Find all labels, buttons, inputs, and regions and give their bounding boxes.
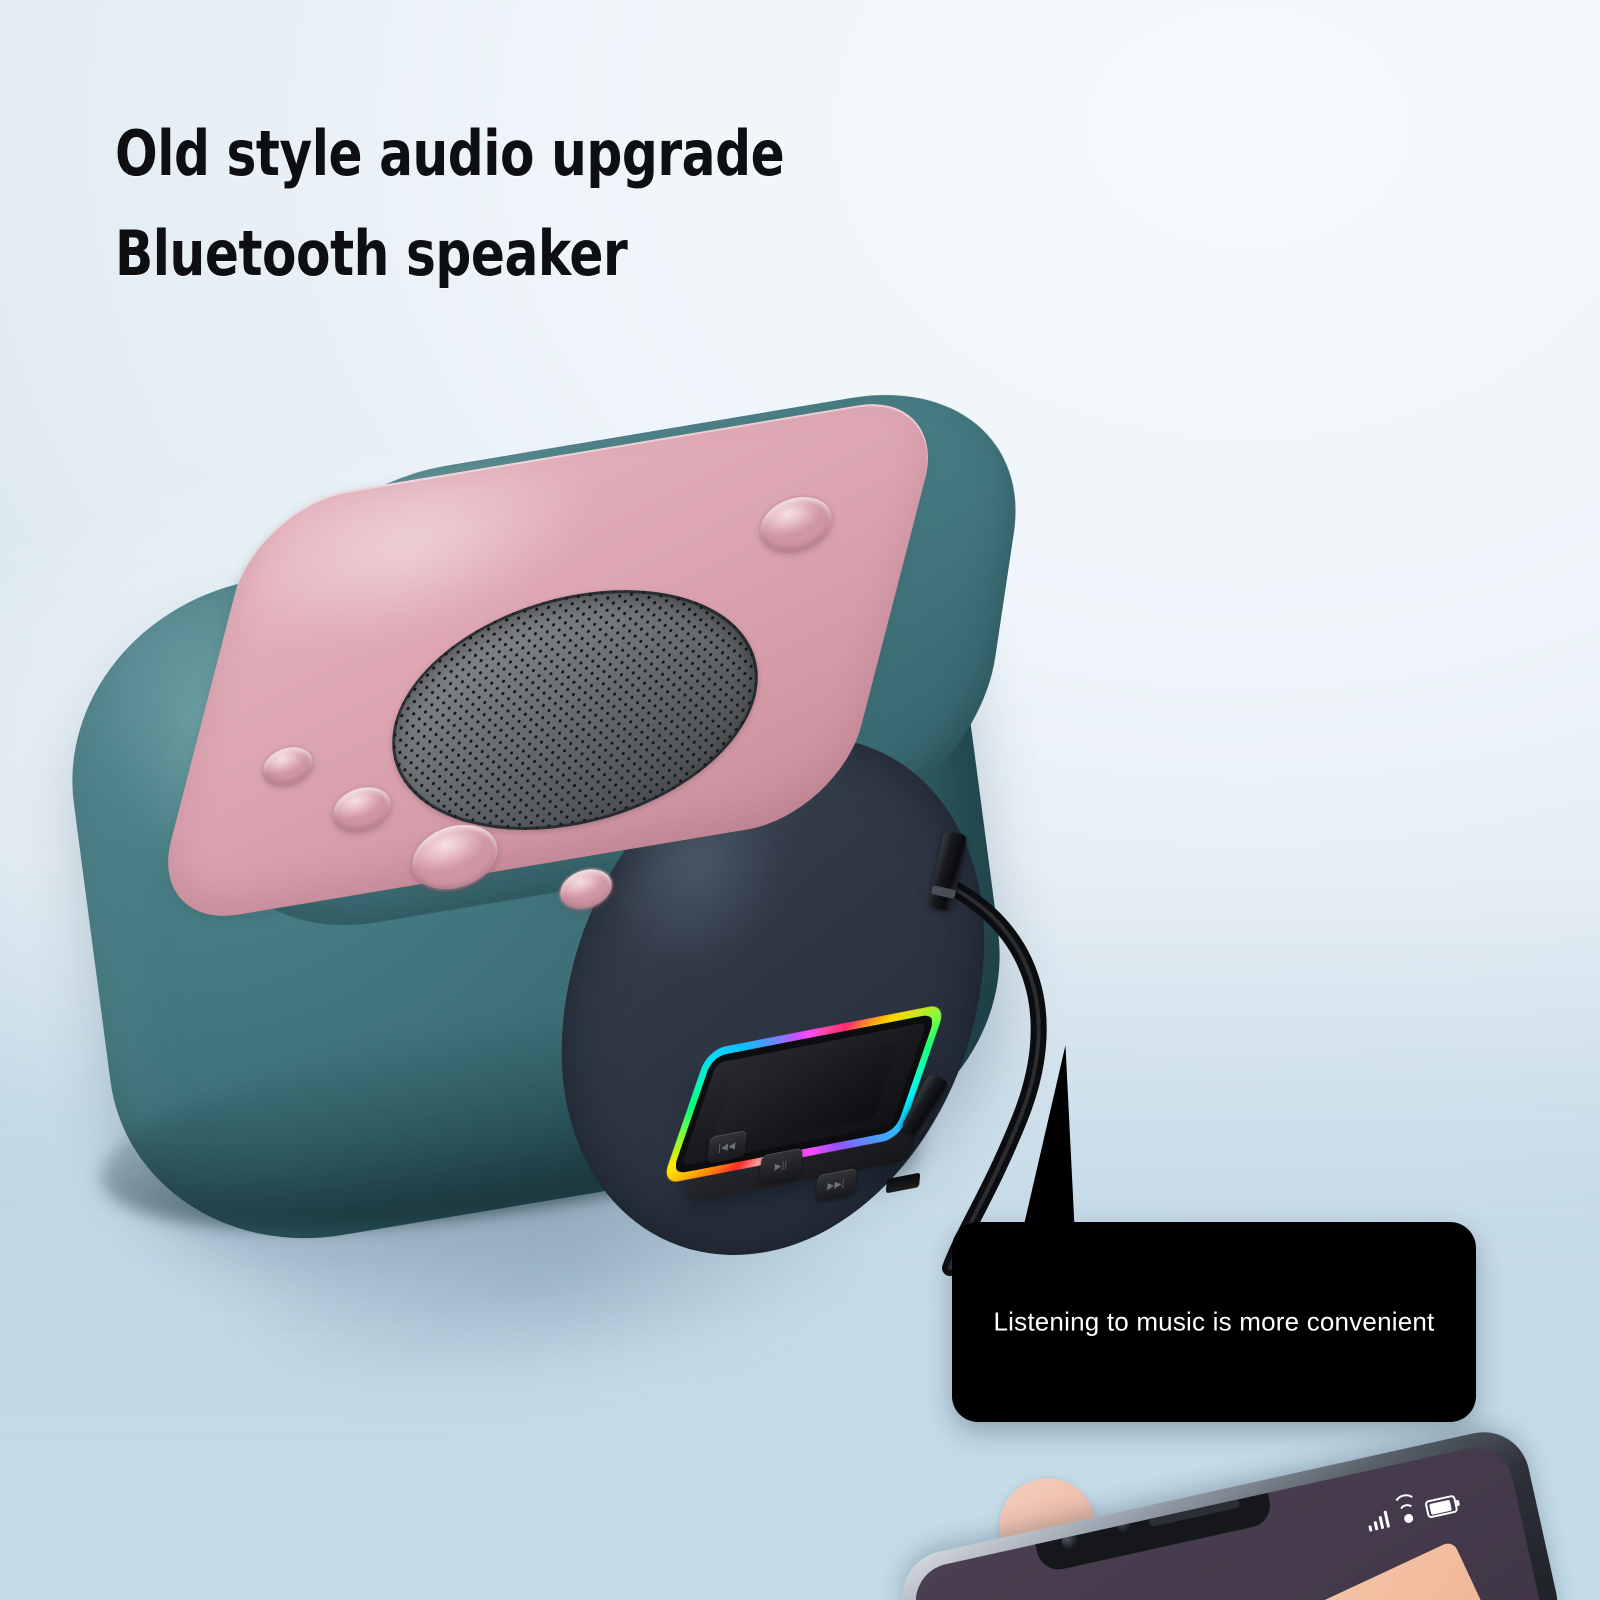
callout-bubble: Listening to music is more convenient xyxy=(952,1222,1476,1422)
headline-line-1: Old style audio upgrade xyxy=(115,104,784,204)
status-bar-icons xyxy=(1365,1494,1458,1531)
headline-block: Old style audio upgrade Bluetooth speake… xyxy=(115,104,859,305)
music-app-card[interactable]: E Y xyxy=(1190,1540,1516,1600)
product-marketing-image: Old style audio upgrade Bluetooth speake… xyxy=(0,0,1600,1600)
smartphone: 11:33 E Y xyxy=(880,1452,1600,1600)
play-pause-glyph: ▶|| xyxy=(760,1156,802,1175)
battery-icon xyxy=(1424,1494,1458,1518)
signal-bars-icon xyxy=(1365,1511,1390,1532)
bluetooth-receiver-dongle[interactable]: |◀◀ ▶|| ▶▶| xyxy=(668,1022,968,1240)
previous-track-glyph: |◀◀ xyxy=(708,1138,746,1157)
next-track-glyph: ▶▶| xyxy=(816,1175,856,1194)
headline-line-2: Bluetooth speaker xyxy=(115,204,784,304)
usb-c-charging-port xyxy=(886,1173,921,1194)
callout-text: Listening to music is more convenient xyxy=(952,1307,1476,1338)
bluetooth-speaker-product xyxy=(60,418,1070,1398)
wifi-icon xyxy=(1395,1504,1419,1525)
